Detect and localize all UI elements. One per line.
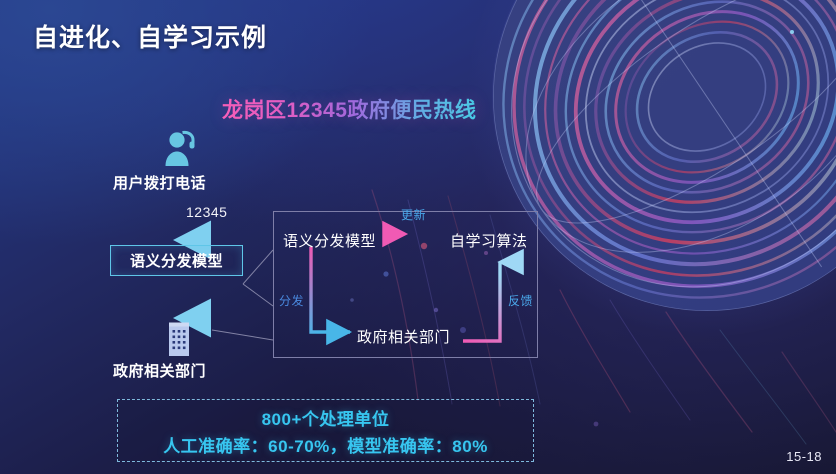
- edge-label-dispatch: 分发: [279, 292, 304, 309]
- hotline-number-label: 12345: [186, 204, 227, 220]
- page-number: 15-18: [786, 449, 822, 464]
- decorative-sphere: [492, 0, 836, 312]
- department-label-left: 政府相关部门: [113, 360, 206, 381]
- edge-label-feedback: 反馈: [508, 292, 533, 309]
- page-title: 自进化、自学习示例: [33, 18, 267, 54]
- sphere-arcs-icon: [492, 0, 836, 312]
- sphere-body: [492, 0, 836, 312]
- caller-label: 用户拨打电话: [113, 172, 206, 193]
- headset-user-icon: [163, 128, 197, 173]
- stats-box: 800+个处理单位 人工准确率：60-70%，模型准确率：80%: [117, 399, 534, 462]
- government-building-icon: [165, 322, 193, 361]
- slide-root: 自进化、自学习示例 龙岗区12345政府便民热线: [0, 0, 836, 474]
- panel-department-label: 政府相关部门: [357, 326, 450, 347]
- semantic-dispatch-model-box[interactable]: 语义分发模型: [110, 245, 243, 276]
- panel-algorithm-label: 自学习算法: [450, 230, 528, 251]
- panel-model-label: 语义分发模型: [283, 230, 376, 251]
- page-subtitle: 龙岗区12345政府便民热线: [222, 94, 476, 124]
- stats-line-2: 人工准确率：60-70%，模型准确率：80%: [163, 432, 488, 457]
- stats-line-1: 800+个处理单位: [262, 405, 390, 430]
- edge-label-update: 更新: [401, 206, 426, 223]
